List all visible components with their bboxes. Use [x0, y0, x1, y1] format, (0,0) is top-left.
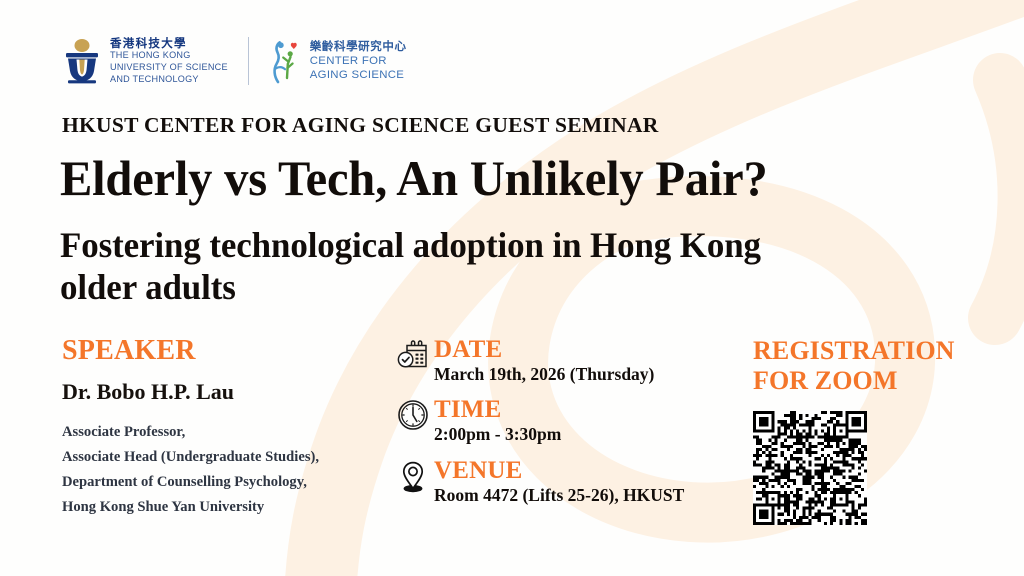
registration-section: REGISTRATION FOR ZOOM [753, 336, 1013, 525]
date-label: DATE [434, 336, 742, 363]
speaker-affiliation: Associate Professor, Associate Head (Und… [62, 420, 382, 520]
detail-row-venue: VENUE Room 4472 (Lifts 25-26), HKUST [392, 457, 742, 506]
aging-science-figure-icon [267, 38, 301, 84]
logo-bar: 香港科技大學 THE HONG KONG UNIVERSITY OF SCIEN… [62, 30, 407, 92]
detail-row-date: DATE March 19th, 2026 (Thursday) [392, 336, 742, 385]
center-logo-chinese: 樂齡科學研究中心 [310, 40, 407, 54]
clock-icon [392, 396, 434, 431]
page-subtitle: Fostering technological adoption in Hong… [60, 224, 933, 309]
center-logo-line-1: CENTER FOR [310, 54, 407, 68]
registration-heading: REGISTRATION FOR ZOOM [753, 336, 1013, 396]
hkust-logo: 香港科技大學 THE HONG KONG UNIVERSITY OF SCIEN… [62, 37, 228, 86]
speaker-name: Dr. Bobo H.P. Lau [62, 380, 382, 404]
logo-divider [248, 37, 249, 85]
hkust-logo-line-2: UNIVERSITY OF SCIENCE [110, 62, 228, 74]
event-details-section: DATE March 19th, 2026 (Thursday) [392, 336, 742, 517]
subtitle-line-2: older adults [60, 266, 933, 308]
speaker-heading: SPEAKER [62, 336, 382, 366]
center-for-aging-science-logo: 樂齡科學研究中心 CENTER FOR AGING SCIENCE [267, 38, 407, 84]
affiliation-line-1: Associate Professor, [62, 420, 382, 445]
affiliation-line-4: Hong Kong Shue Yan University [62, 495, 382, 520]
qr-code[interactable] [753, 411, 867, 525]
page-title: Elderly vs Tech, An Unlikely Pair? [60, 152, 768, 205]
center-logo-line-2: AGING SCIENCE [310, 68, 407, 82]
seminar-eyebrow: HKUST CENTER FOR AGING SCIENCE GUEST SEM… [62, 113, 659, 138]
hkust-logo-line-3: AND TECHNOLOGY [110, 74, 228, 86]
detail-row-time: TIME 2:00pm - 3:30pm [392, 396, 742, 445]
calendar-check-icon [392, 336, 434, 371]
hkust-shield-icon [62, 38, 102, 84]
subtitle-line-1: Fostering technological adoption in Hong… [60, 224, 933, 266]
qr-code-canvas[interactable] [753, 411, 867, 525]
speaker-section: SPEAKER Dr. Bobo H.P. Lau Associate Prof… [62, 336, 382, 520]
time-label: TIME [434, 396, 742, 423]
registration-heading-line-1: REGISTRATION [753, 336, 1013, 366]
date-value: March 19th, 2026 (Thursday) [434, 364, 742, 385]
registration-heading-line-2: FOR ZOOM [753, 366, 1013, 396]
venue-value: Room 4472 (Lifts 25-26), HKUST [434, 485, 742, 506]
location-pin-icon [392, 457, 434, 494]
hkust-logo-chinese: 香港科技大學 [110, 37, 228, 51]
hkust-logo-line-1: THE HONG KONG [110, 50, 228, 62]
affiliation-line-3: Department of Counselling Psychology, [62, 470, 382, 495]
seminar-poster: 香港科技大學 THE HONG KONG UNIVERSITY OF SCIEN… [0, 0, 1024, 576]
venue-label: VENUE [434, 457, 742, 484]
time-value: 2:00pm - 3:30pm [434, 424, 742, 445]
affiliation-line-2: Associate Head (Undergraduate Studies), [62, 445, 382, 470]
